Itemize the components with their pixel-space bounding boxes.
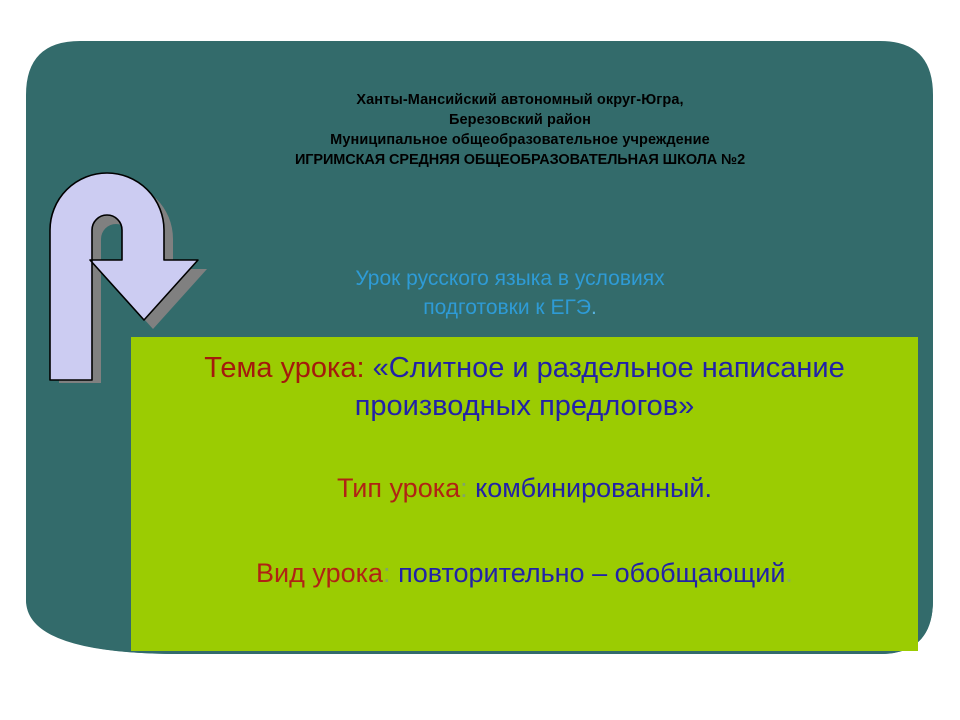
- lesson-kind-value: повторительно – обобщающий: [398, 558, 785, 588]
- lesson-theme-value-line2: производных предлогов»: [355, 390, 695, 422]
- lesson-theme-row: Тема урока: «Слитное и раздельное написа…: [143, 350, 906, 425]
- subtitle-period: .: [591, 296, 597, 319]
- lesson-kind-label: Вид урока: [256, 558, 383, 588]
- header-line-3: Муниципальное общеобразовательное учрежд…: [240, 130, 800, 150]
- header-line-4: ИГРИМСКАЯ СРЕДНЯЯ ОБЩЕОБРАЗОВАТЕЛЬНАЯ ШК…: [240, 150, 800, 170]
- lesson-theme-value-line1: «Слитное и раздельное написание: [373, 352, 845, 384]
- lesson-kind-period: .: [785, 558, 793, 588]
- lesson-kind-label-group: Вид урока:: [256, 558, 391, 588]
- institution-header: Ханты-Мансийский автономный округ-Югра, …: [240, 90, 800, 170]
- header-line-2: Березовский район: [240, 110, 800, 130]
- lesson-info-panel: Тема урока: «Слитное и раздельное написа…: [131, 337, 918, 651]
- lesson-subtitle: Урок русского языка в условиях подготовк…: [300, 265, 720, 323]
- subtitle-line-2: подготовки к ЕГЭ: [423, 296, 591, 319]
- lesson-theme-label: Тема урока:: [204, 352, 364, 384]
- header-line-1: Ханты-Мансийский автономный округ-Югра,: [240, 90, 800, 110]
- subtitle-line-2-wrap: подготовки к ЕГЭ.: [300, 294, 720, 323]
- subtitle-line-1: Урок русского языка в условиях: [300, 265, 720, 294]
- lesson-kind-row: Вид урока: повторительно – обобщающий.: [143, 556, 906, 591]
- lesson-type-row: Тип урока: комбинированный.: [143, 471, 906, 506]
- lesson-type-value: комбинированный.: [475, 473, 712, 503]
- lesson-type-label-group: Тип урока:: [337, 473, 468, 503]
- slide-canvas: Ханты-Мансийский автономный округ-Югра, …: [0, 0, 960, 720]
- lesson-type-label: Тип урока: [337, 473, 460, 503]
- lesson-kind-colon: :: [383, 558, 391, 588]
- lesson-type-colon: :: [460, 473, 468, 503]
